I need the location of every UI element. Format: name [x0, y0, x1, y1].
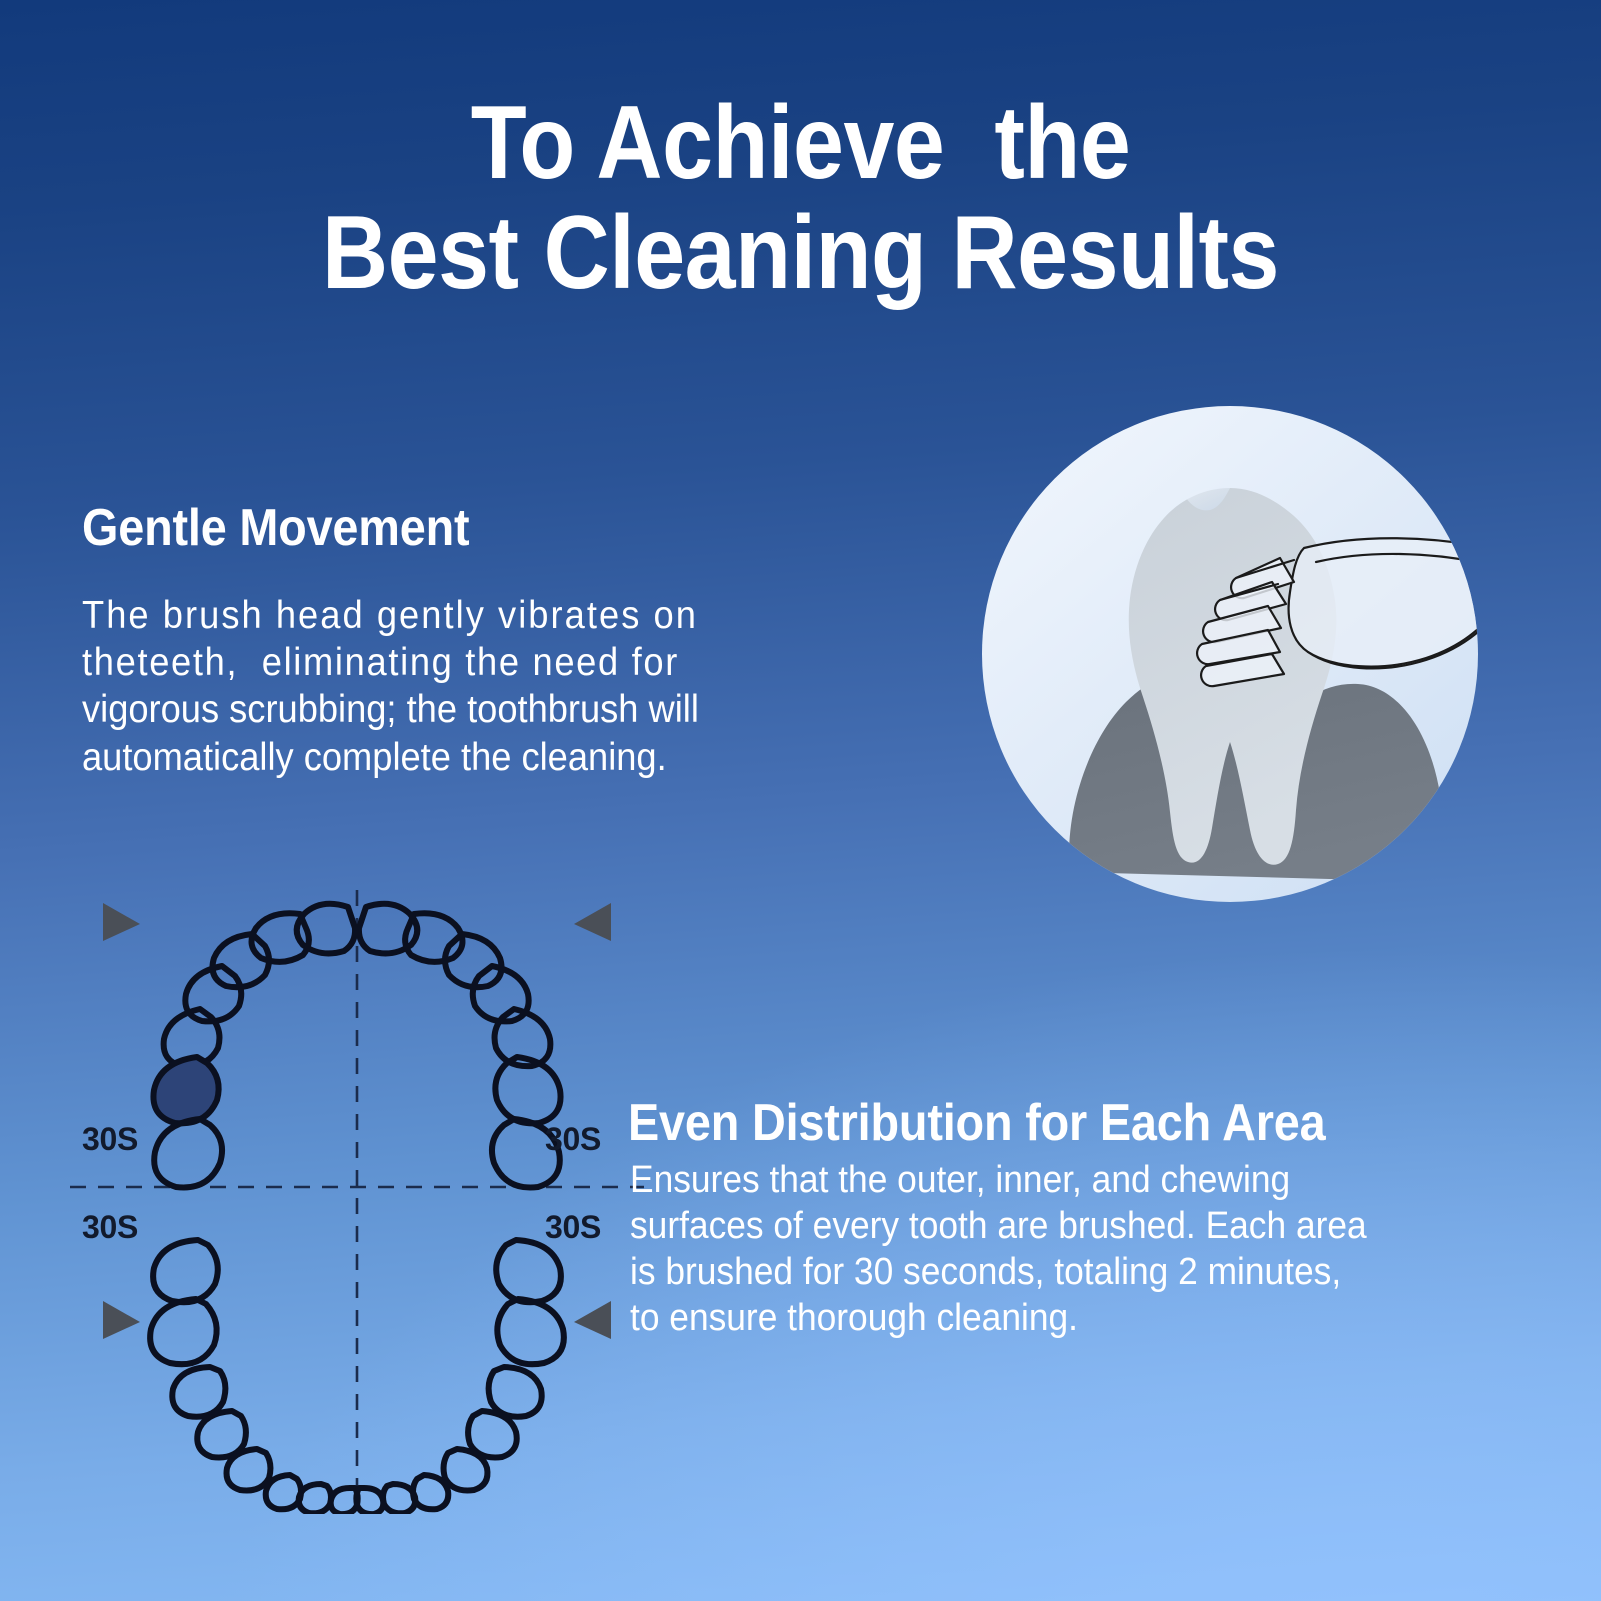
- highlighted-tooth: [153, 1057, 218, 1123]
- section-body-gentle-movement: The brush head gently vibrates on thetee…: [82, 592, 845, 781]
- arrow-marker-upper-left: [103, 903, 140, 941]
- page-title-line-1: To Achieve the: [96, 88, 1505, 198]
- section-body-even-distribution: Ensures that the outer, inner, and chewi…: [630, 1158, 1504, 1342]
- arrow-marker-lower-left: [103, 1301, 140, 1339]
- quadrant-label-upper-right: 30S: [545, 1121, 601, 1158]
- body-line: automatically complete the cleaning.: [82, 734, 845, 781]
- arrow-marker-upper-right: [574, 903, 611, 941]
- section-heading-even-distribution: Even Distribution for Each Area: [628, 1093, 1325, 1153]
- body-line: theteeth, eliminating the need for: [82, 639, 845, 686]
- body-line: Ensures that the outer, inner, and chewi…: [630, 1158, 1504, 1204]
- quadrant-label-lower-right: 30S: [545, 1209, 601, 1246]
- upper-arch-teeth: [359, 904, 561, 1188]
- body-line: is brushed for 30 seconds, totaling 2 mi…: [630, 1250, 1504, 1296]
- body-line: The brush head gently vibrates on: [82, 592, 845, 639]
- body-line: vigorous scrubbing; the toothbrush will: [82, 686, 845, 733]
- body-line: surfaces of every tooth are brushed. Eac…: [630, 1204, 1504, 1250]
- page-title-line-2: Best Cleaning Results: [96, 198, 1505, 308]
- upper-arch-teeth-left: [153, 904, 355, 1188]
- quadrant-label-upper-left: 30S: [82, 1121, 138, 1158]
- tooth-brushing-illustration: [978, 402, 1482, 906]
- quadrant-label-lower-left: 30S: [82, 1209, 138, 1246]
- body-line: to ensure thorough cleaning.: [630, 1296, 1504, 1342]
- infographic-page: To Achieve the Best Cleaning Results Gen…: [0, 0, 1601, 1601]
- arch-divider-lines: [70, 890, 644, 1510]
- page-title: To Achieve the Best Cleaning Results: [96, 88, 1505, 308]
- arrow-marker-lower-right: [574, 1301, 611, 1339]
- dental-arch-quadrant-diagram: [62, 862, 652, 1514]
- section-heading-gentle-movement: Gentle Movement: [82, 498, 469, 558]
